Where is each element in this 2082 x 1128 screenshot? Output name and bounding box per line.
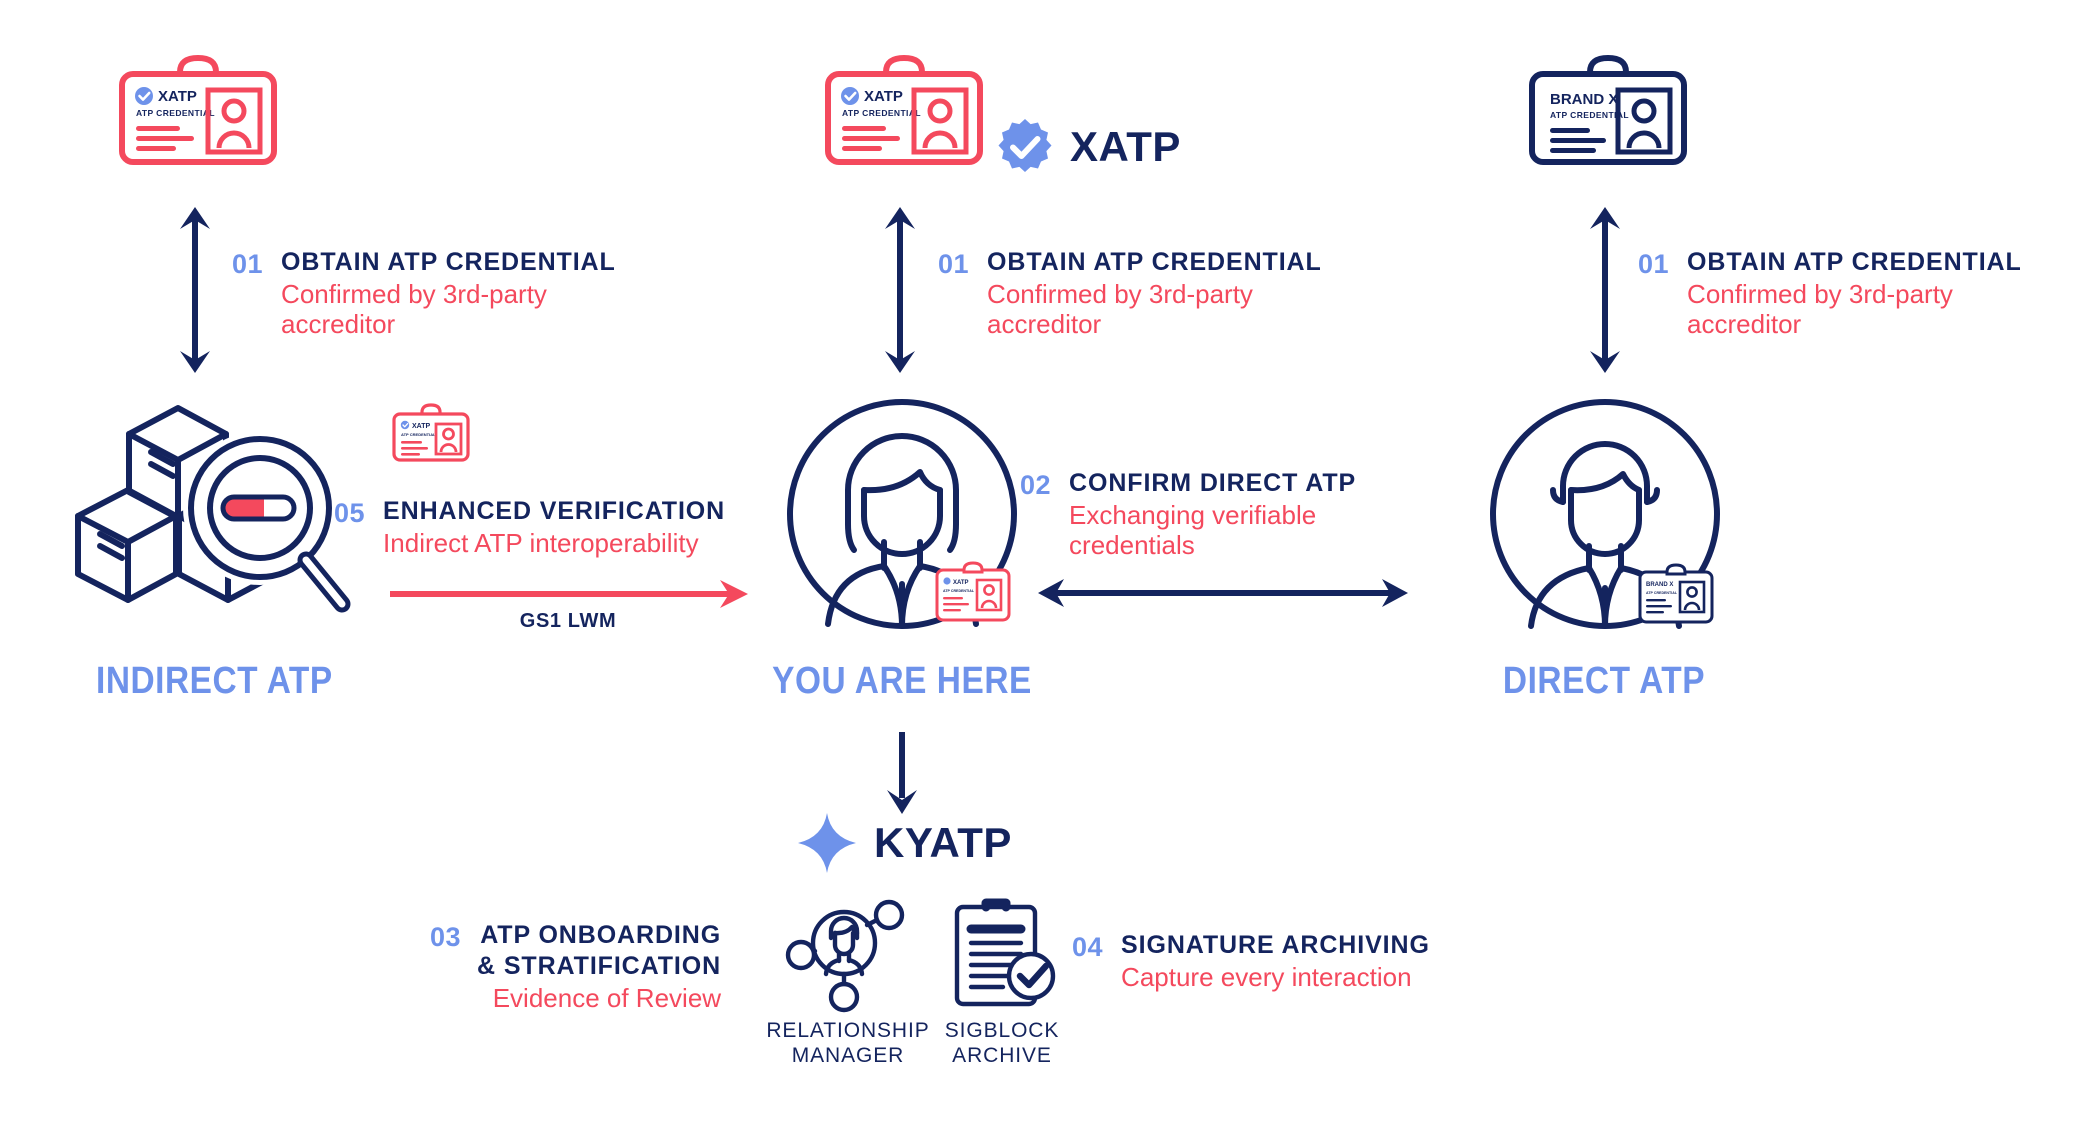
- svg-text:ATP CREDENTIAL: ATP CREDENTIAL: [842, 108, 921, 118]
- step-number: 02: [1020, 468, 1051, 500]
- person-female-circle-icon: XATP ATP CREDENTIAL: [782, 398, 1022, 630]
- arrow-right-icon: [388, 578, 750, 610]
- xatp-credential-badge-left: XATP ATP CREDENTIAL: [118, 48, 278, 168]
- double-arrow-vertical-icon: [1586, 205, 1624, 375]
- step-confirm-02: 02 CONFIRM DIRECT ATP Exchanging verifia…: [1020, 468, 1420, 560]
- double-arrow-horizontal-icon: [1036, 576, 1410, 610]
- step-onboarding-03: 03 ATP ONBOARDING & STRATIFICATION Evide…: [430, 920, 721, 1013]
- step-archiving-04: 04 SIGNATURE ARCHIVING Capture every int…: [1072, 930, 1502, 992]
- step-subtitle: Exchanging verifiable credentials: [1069, 500, 1356, 560]
- brandx-credential-badge: BRAND X ATP CREDENTIAL: [1528, 48, 1688, 168]
- arrow-down-to-kyatp: [886, 730, 918, 816]
- relationship-manager-icon-block: [788, 898, 906, 1010]
- step-title: OBTAIN ATP CREDENTIAL: [281, 247, 616, 278]
- xatp-credential-badge-center: XATP ATP CREDENTIAL: [824, 48, 984, 168]
- step-number: 01: [938, 247, 969, 279]
- svg-text:XATP: XATP: [864, 88, 903, 105]
- sigblock-archive-icon-block: [948, 898, 1056, 1010]
- step-title: ATP ONBOARDING & STRATIFICATION: [477, 920, 721, 982]
- indirect-atp-boxes-icon: [66, 392, 356, 632]
- step-number: 01: [1638, 247, 1669, 279]
- svg-text:ATP CREDENTIAL: ATP CREDENTIAL: [943, 589, 975, 593]
- column-heading-indirect-atp: INDIRECT ATP: [96, 660, 333, 703]
- step-center-01: 01 OBTAIN ATP CREDENTIAL Confirmed by 3r…: [938, 247, 1358, 339]
- brandx-mini-badge-on-person: BRAND X ATP CREDENTIAL: [1640, 565, 1712, 622]
- step-subtitle: Evidence of Review: [493, 983, 721, 1013]
- badge-subtitle-text: ATP CREDENTIAL: [136, 108, 215, 118]
- badge-title-text: XATP: [158, 88, 197, 105]
- badge-icon: BRAND X ATP CREDENTIAL: [1528, 48, 1688, 168]
- kyatp-sparkle-icon: [796, 812, 858, 874]
- step-number: 01: [232, 247, 263, 279]
- svg-text:BRAND X: BRAND X: [1646, 582, 1673, 588]
- arrow-center-right-horizontal: [1036, 576, 1410, 610]
- step-subtitle: Confirmed by 3rd-party accreditor: [1687, 279, 2022, 339]
- kyatp-logo: KYATP: [796, 812, 1012, 874]
- you-are-here-person-icon: XATP ATP CREDENTIAL: [782, 398, 1022, 630]
- step-subtitle: Confirmed by 3rd-party accreditor: [281, 279, 616, 339]
- double-arrow-vertical-icon: [881, 205, 919, 375]
- badge-title-text: BRAND X: [1550, 91, 1618, 108]
- step-title: SIGNATURE ARCHIVING: [1121, 930, 1430, 961]
- step-right-01: 01 OBTAIN ATP CREDENTIAL Confirmed by 3r…: [1638, 247, 2058, 339]
- arrow-down-icon: [886, 730, 918, 816]
- clipboard-check-icon: [948, 898, 1056, 1010]
- direct-atp-person-icon: BRAND X ATP CREDENTIAL: [1485, 398, 1725, 630]
- arrow-gs1-lwm: [388, 578, 750, 610]
- xatp-seal-check-icon: [996, 118, 1054, 176]
- step-title: OBTAIN ATP CREDENTIAL: [987, 247, 1322, 278]
- svg-text:ATP CREDENTIAL: ATP CREDENTIAL: [401, 432, 436, 437]
- relationship-manager-caption: RELATIONSHIP MANAGER: [758, 1018, 938, 1068]
- step-subtitle: Capture every interaction: [1121, 962, 1430, 992]
- step-number: 03: [430, 920, 461, 952]
- column-heading-you-are-here: YOU ARE HERE: [772, 660, 1032, 703]
- badge-icon: XATP ATP CREDENTIAL: [392, 402, 470, 464]
- svg-text:XATP: XATP: [953, 580, 969, 586]
- kyatp-wordmark: KYATP: [874, 822, 1012, 864]
- xatp-mini-badge-on-person: XATP ATP CREDENTIAL: [937, 563, 1009, 620]
- relationship-manager-icon: [788, 898, 906, 1010]
- step-number: 04: [1072, 930, 1103, 962]
- person-male-circle-icon: BRAND X ATP CREDENTIAL: [1485, 398, 1725, 630]
- boxes-magnifier-icon: [66, 392, 356, 632]
- arrow-left-vertical: [176, 205, 214, 375]
- double-arrow-vertical-icon: [176, 205, 214, 375]
- step-subtitle: Confirmed by 3rd-party accreditor: [987, 279, 1322, 339]
- badge-icon: XATP ATP CREDENTIAL: [824, 48, 984, 168]
- step-subtitle: Indirect ATP interoperability: [383, 528, 725, 558]
- step-left-01: 01 OBTAIN ATP CREDENTIAL Confirmed by 3r…: [232, 247, 652, 339]
- step-number: 05: [334, 496, 365, 528]
- step-title: ENHANCED VERIFICATION: [383, 496, 725, 527]
- gs1-lwm-label: GS1 LWM: [488, 610, 648, 633]
- step-title: CONFIRM DIRECT ATP: [1069, 468, 1356, 499]
- step-title: OBTAIN ATP CREDENTIAL: [1687, 247, 2022, 278]
- sigblock-archive-caption: SIGBLOCK ARCHIVE: [912, 1018, 1092, 1068]
- xatp-logo: XATP: [996, 118, 1181, 176]
- arrow-right-vertical: [1586, 205, 1624, 375]
- column-heading-direct-atp: DIRECT ATP: [1503, 660, 1705, 703]
- badge-icon: XATP ATP CREDENTIAL: [118, 48, 278, 168]
- step-enhanced-05: 05 ENHANCED VERIFICATION Indirect ATP in…: [334, 496, 754, 558]
- xatp-mini-badge-left: XATP ATP CREDENTIAL: [392, 402, 470, 464]
- arrow-center-vertical: [881, 205, 919, 375]
- svg-text:ATP CREDENTIAL: ATP CREDENTIAL: [1646, 591, 1678, 595]
- xatp-wordmark: XATP: [1070, 126, 1181, 168]
- svg-text:XATP: XATP: [412, 423, 430, 430]
